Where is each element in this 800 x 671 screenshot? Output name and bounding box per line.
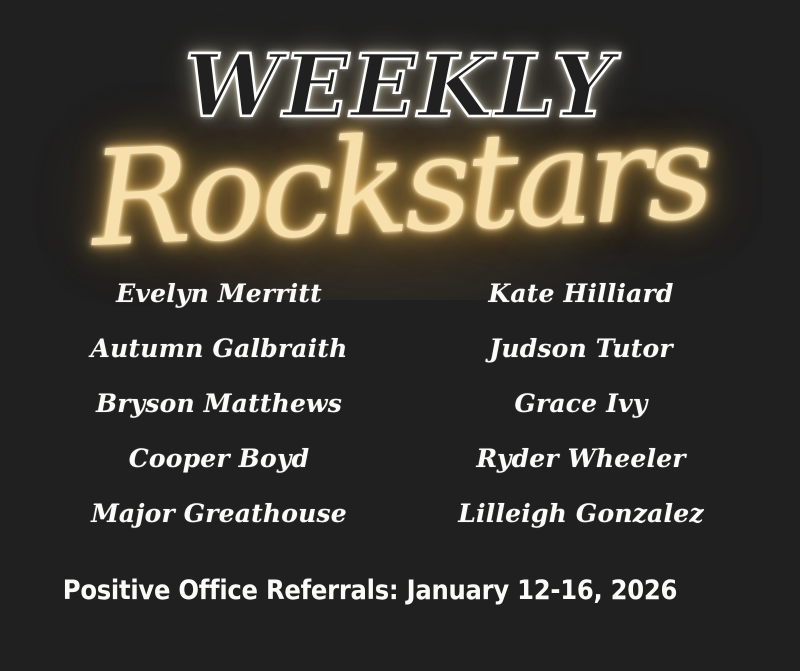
list-item: Major Greathouse (38, 486, 400, 541)
title-line-weekly: WEEKLY (0, 44, 800, 130)
list-item: Grace Ivy (400, 376, 762, 431)
list-item: Kate Hilliard (400, 266, 762, 321)
honoree-names-grid: Evelyn Merritt Kate Hilliard Autumn Galb… (38, 266, 762, 541)
list-item: Bryson Matthews (38, 376, 400, 431)
list-item: Autumn Galbraith (38, 321, 400, 376)
list-item: Ryder Wheeler (400, 431, 762, 486)
poster-title-block: Rockstars WEEKLY (0, 44, 800, 259)
list-item: Judson Tutor (400, 321, 762, 376)
weekly-rockstars-poster: Rockstars WEEKLY Evelyn Merritt Kate Hil… (0, 0, 800, 671)
list-item: Evelyn Merritt (38, 266, 400, 321)
list-item: Cooper Boyd (38, 431, 400, 486)
poster-caption: Positive Office Referrals: January 12-16… (37, 575, 703, 606)
list-item: Lilleigh Gonzalez (400, 486, 762, 541)
